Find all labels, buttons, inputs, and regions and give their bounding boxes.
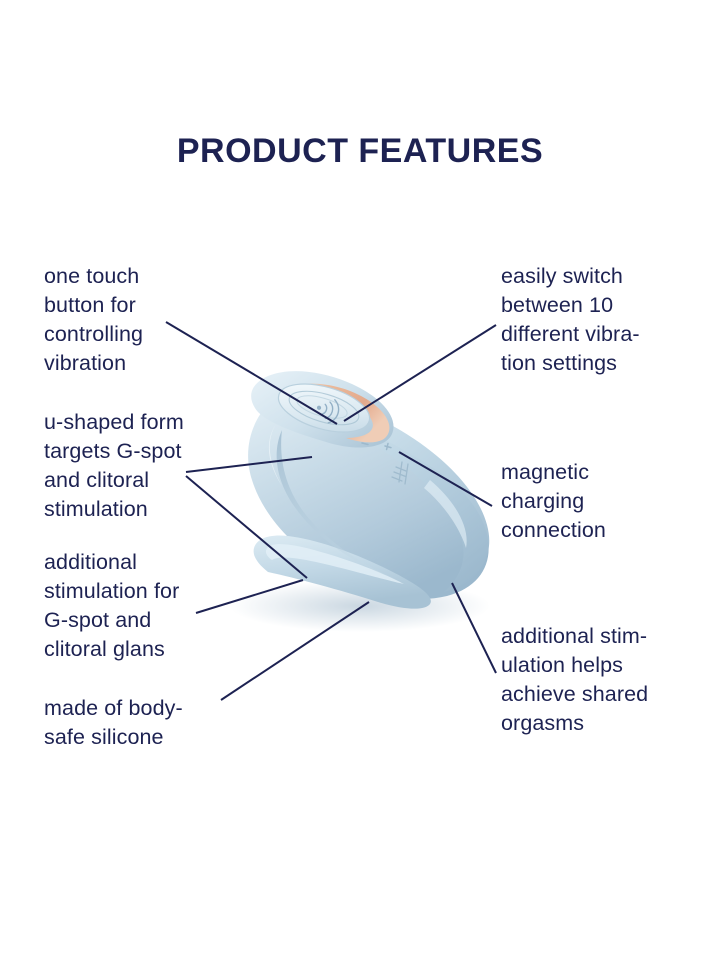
callout-vibration-settings: easily switch between 10 different vibra… [501, 262, 701, 379]
callout-u-shaped-form: u-shaped form targets G-spot and clitora… [44, 408, 259, 525]
callout-additional-stimulation: additional stimulation for G-spot and cl… [44, 548, 269, 665]
product-features-page: PRODUCT FEATURES [0, 0, 720, 960]
callout-magnetic-charging: magnetic charging connection [501, 458, 691, 545]
callout-body-safe-silicone: made of body- safe silicone [44, 694, 274, 752]
callout-one-touch-button: one touch button for controlling vibrati… [44, 262, 259, 379]
callout-shared-orgasms: additional stim- ulation helps achieve s… [501, 622, 706, 739]
